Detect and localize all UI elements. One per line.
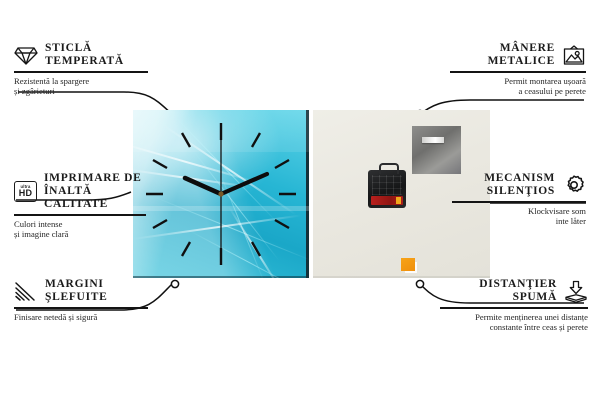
clock-face (133, 110, 309, 278)
foam-spacer-icon (564, 280, 588, 303)
feature-header: ultra HD IMPRIMARE DE ÎNALTĂ CALITATE (14, 172, 146, 211)
feature-description: Culori intense și imagine clară (14, 219, 146, 239)
feature-tempered-glass: STICLĂ TEMPERATĂ Rezistentă la spargere … (14, 42, 148, 96)
connector-node-polished-edges (171, 280, 178, 287)
quartz-mechanism (368, 170, 406, 208)
feature-header: MARGINI ŞLEFUITE (14, 278, 148, 304)
feature-title: IMPRIMARE DE ÎNALTĂ CALITATE (44, 172, 146, 211)
feature-header: MÂNERE METALICE (450, 42, 586, 68)
diamond-icon (14, 45, 38, 66)
feature-description: Klockvisare som inte låter (452, 206, 586, 226)
feature-print-quality: ultra HD IMPRIMARE DE ÎNALTĂ CALITATE Cu… (14, 172, 146, 239)
feature-description: Finisare netedă și sigură (14, 312, 148, 322)
divider (452, 201, 586, 203)
divider (14, 307, 148, 309)
mechanism-texture (372, 175, 402, 195)
divider (440, 307, 588, 309)
infographic-canvas: STICLĂ TEMPERATĂ Rezistentă la spargere … (0, 0, 600, 400)
feature-silent-mechanism: MECANISM SILENŢIOS Klockvisare som inte … (452, 172, 586, 226)
hands-hub (218, 191, 223, 196)
hour-hand (185, 178, 221, 194)
feature-title: STICLĂ TEMPERATĂ (45, 42, 124, 68)
feature-polished-edges: MARGINI ŞLEFUITE Finisare netedă și sigu… (14, 278, 148, 322)
feature-title: MECANISM SILENŢIOS (484, 172, 555, 198)
feature-foam-spacer: DISTANŢIER SPUMĂ Permite menținerea unei… (440, 278, 588, 332)
feature-header: STICLĂ TEMPERATĂ (14, 42, 148, 68)
battery (371, 196, 403, 205)
clock-hands (133, 110, 309, 278)
gear-icon (562, 174, 586, 196)
connector-node-foam-spacer (416, 280, 423, 287)
feature-title: MÂNERE METALICE (488, 42, 555, 68)
feature-header: DISTANŢIER SPUMĂ (440, 278, 588, 304)
feature-description: Rezistentă la spargere și zgârieturi (14, 76, 148, 96)
feature-metal-handles: MÂNERE METALICE Permit montarea ușoară a… (450, 42, 586, 96)
feature-header: MECANISM SILENŢIOS (452, 172, 586, 198)
divider (14, 214, 146, 216)
minute-hand (221, 174, 267, 194)
ultra-hd-badge-icon: ultra HD (14, 181, 37, 202)
feature-title: MARGINI ŞLEFUITE (45, 278, 107, 304)
feature-description: Permite menținerea unei distanțe constan… (440, 312, 588, 332)
hanger-loop (379, 163, 399, 174)
product-photo (133, 110, 490, 278)
picture-hanger-icon (562, 45, 586, 66)
feature-title: DISTANŢIER SPUMĂ (479, 278, 557, 304)
feature-description: Permit montarea ușoară a ceasului pe per… (450, 76, 586, 96)
metal-hanger (412, 126, 461, 174)
divider (14, 71, 148, 73)
divider (450, 71, 586, 73)
foam-spacer (401, 258, 415, 271)
polished-edges-icon (14, 281, 38, 302)
